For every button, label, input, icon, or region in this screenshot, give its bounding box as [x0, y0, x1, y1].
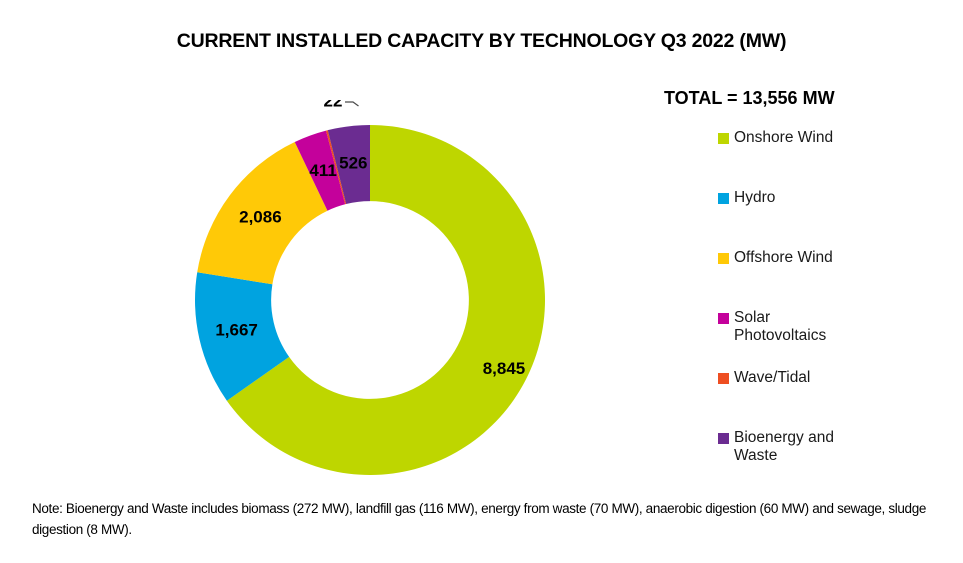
leader-lines — [345, 102, 359, 106]
slice-value-label-wave: 22 — [324, 100, 343, 110]
donut-chart-svg: 8,8451,6672,08641152622 — [170, 100, 570, 500]
legend-item[interactable]: Solar Photovoltaics — [718, 309, 954, 369]
legend-item-label: Onshore Wind — [734, 129, 833, 147]
slice-value-label: 8,845 — [483, 359, 526, 378]
slice-value-label: 1,667 — [215, 320, 258, 339]
slice-value-label: 411 — [309, 161, 336, 180]
legend-item[interactable]: Hydro — [718, 189, 954, 249]
donut-slices — [195, 125, 545, 475]
slice-value-label: 526 — [339, 154, 367, 173]
legend-item[interactable]: Onshore Wind — [718, 129, 954, 189]
legend-swatch-icon — [718, 433, 729, 444]
legend-item-label: Bioenergy and Waste — [734, 429, 834, 465]
legend-swatch-icon — [718, 133, 729, 144]
legend-swatch-icon — [718, 313, 729, 324]
leader-line-wave — [345, 102, 359, 106]
legend-item[interactable]: Bioenergy and Waste — [718, 429, 954, 489]
legend-item-label: Offshore Wind — [734, 249, 833, 267]
total-capacity-label: TOTAL = 13,556 MW — [664, 88, 954, 109]
page-title: CURRENT INSTALLED CAPACITY BY TECHNOLOGY… — [0, 30, 963, 53]
donut-chart: 8,8451,6672,08641152622 — [170, 100, 570, 500]
legend: TOTAL = 13,556 MW Onshore WindHydroOffsh… — [664, 88, 954, 489]
legend-item[interactable]: Offshore Wind — [718, 249, 954, 309]
legend-item-label: Wave/Tidal — [734, 369, 810, 387]
legend-list: Onshore WindHydroOffshore WindSolar Phot… — [718, 129, 954, 489]
legend-swatch-icon — [718, 253, 729, 264]
footnote: Note: Bioenergy and Waste includes bioma… — [32, 498, 942, 540]
legend-swatch-icon — [718, 373, 729, 384]
legend-item-label: Hydro — [734, 189, 775, 207]
legend-item[interactable]: Wave/Tidal — [718, 369, 954, 429]
legend-swatch-icon — [718, 193, 729, 204]
legend-item-label: Solar Photovoltaics — [734, 309, 826, 345]
slice-value-label: 2,086 — [239, 207, 282, 226]
